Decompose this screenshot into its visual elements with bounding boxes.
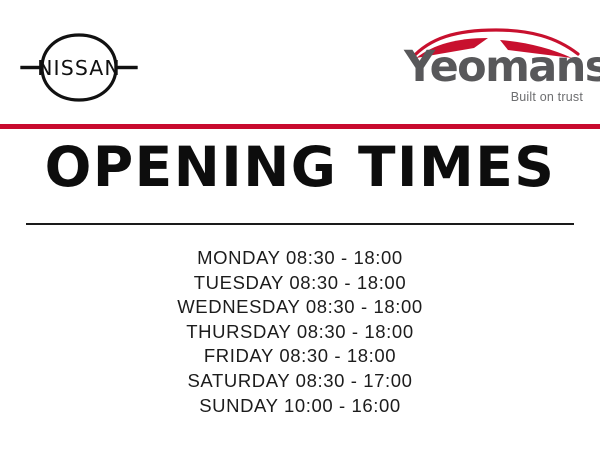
hours-row: WEDNESDAY 08:30 - 18:00 (0, 295, 600, 320)
svg-text:NISSAN: NISSAN (37, 56, 121, 80)
hours-row: FRIDAY 08:30 - 18:00 (0, 344, 600, 369)
title-underline-rule (26, 223, 574, 225)
hours-row: THURSDAY 08:30 - 18:00 (0, 320, 600, 345)
title-block: OPENING TIMES (0, 138, 600, 197)
accent-divider-bar (0, 124, 600, 129)
page-title: OPENING TIMES (0, 138, 600, 197)
yeomans-logo: Yeomans Built on trust (404, 28, 584, 106)
hours-row: SATURDAY 08:30 - 17:00 (0, 369, 600, 394)
hours-row: MONDAY 08:30 - 18:00 (0, 246, 600, 271)
hours-row: TUESDAY 08:30 - 18:00 (0, 271, 600, 296)
hours-row: SUNDAY 10:00 - 16:00 (0, 394, 600, 419)
yeomans-wordmark: Yeomans (404, 46, 584, 89)
nissan-logo: NISSAN (18, 25, 140, 109)
poster-header: NISSAN Yeomans Built on trust (0, 0, 600, 125)
yeomans-tagline: Built on trust (511, 90, 583, 104)
opening-times-poster: NISSAN Yeomans Built on trust OPENING (0, 0, 600, 450)
opening-hours-list: MONDAY 08:30 - 18:00 TUESDAY 08:30 - 18:… (0, 246, 600, 418)
nissan-badge-icon: NISSAN (18, 25, 140, 109)
